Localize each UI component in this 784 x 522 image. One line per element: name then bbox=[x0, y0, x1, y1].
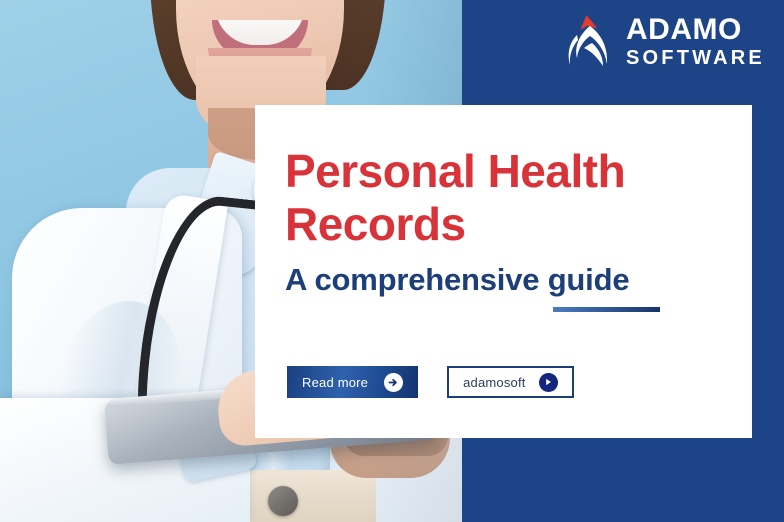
accent-underline bbox=[553, 307, 660, 312]
read-more-label: Read more bbox=[302, 375, 368, 390]
title-line-1: Personal Health bbox=[285, 145, 625, 197]
logo-adamo-text: ADAMO bbox=[626, 15, 765, 45]
content-card: Personal Health Records A comprehensive … bbox=[255, 105, 752, 438]
adamosoft-button[interactable]: adamosoft bbox=[447, 366, 574, 398]
page-title: Personal Health Records bbox=[285, 145, 726, 252]
arrow-right-circle-icon bbox=[384, 373, 403, 392]
adamo-a-swoosh-icon bbox=[566, 12, 616, 70]
logo-wordmark: ADAMO SOFTWARE bbox=[626, 15, 765, 68]
cta-row: Read more adamosoft bbox=[287, 366, 574, 398]
card-body: Personal Health Records A comprehensive … bbox=[285, 145, 726, 297]
banner-canvas: ADAMO SOFTWARE Personal Health Records A… bbox=[0, 0, 784, 522]
brand-logo[interactable]: ADAMO SOFTWARE bbox=[566, 8, 758, 74]
page-subtitle: A comprehensive guide bbox=[285, 262, 726, 298]
adamosoft-label: adamosoft bbox=[463, 375, 526, 390]
navy-panel-bottom bbox=[462, 438, 784, 522]
title-line-2: Records bbox=[285, 198, 466, 250]
play-circle-icon bbox=[539, 373, 558, 392]
logo-software-text: SOFTWARE bbox=[626, 48, 765, 68]
read-more-button[interactable]: Read more bbox=[287, 366, 418, 398]
